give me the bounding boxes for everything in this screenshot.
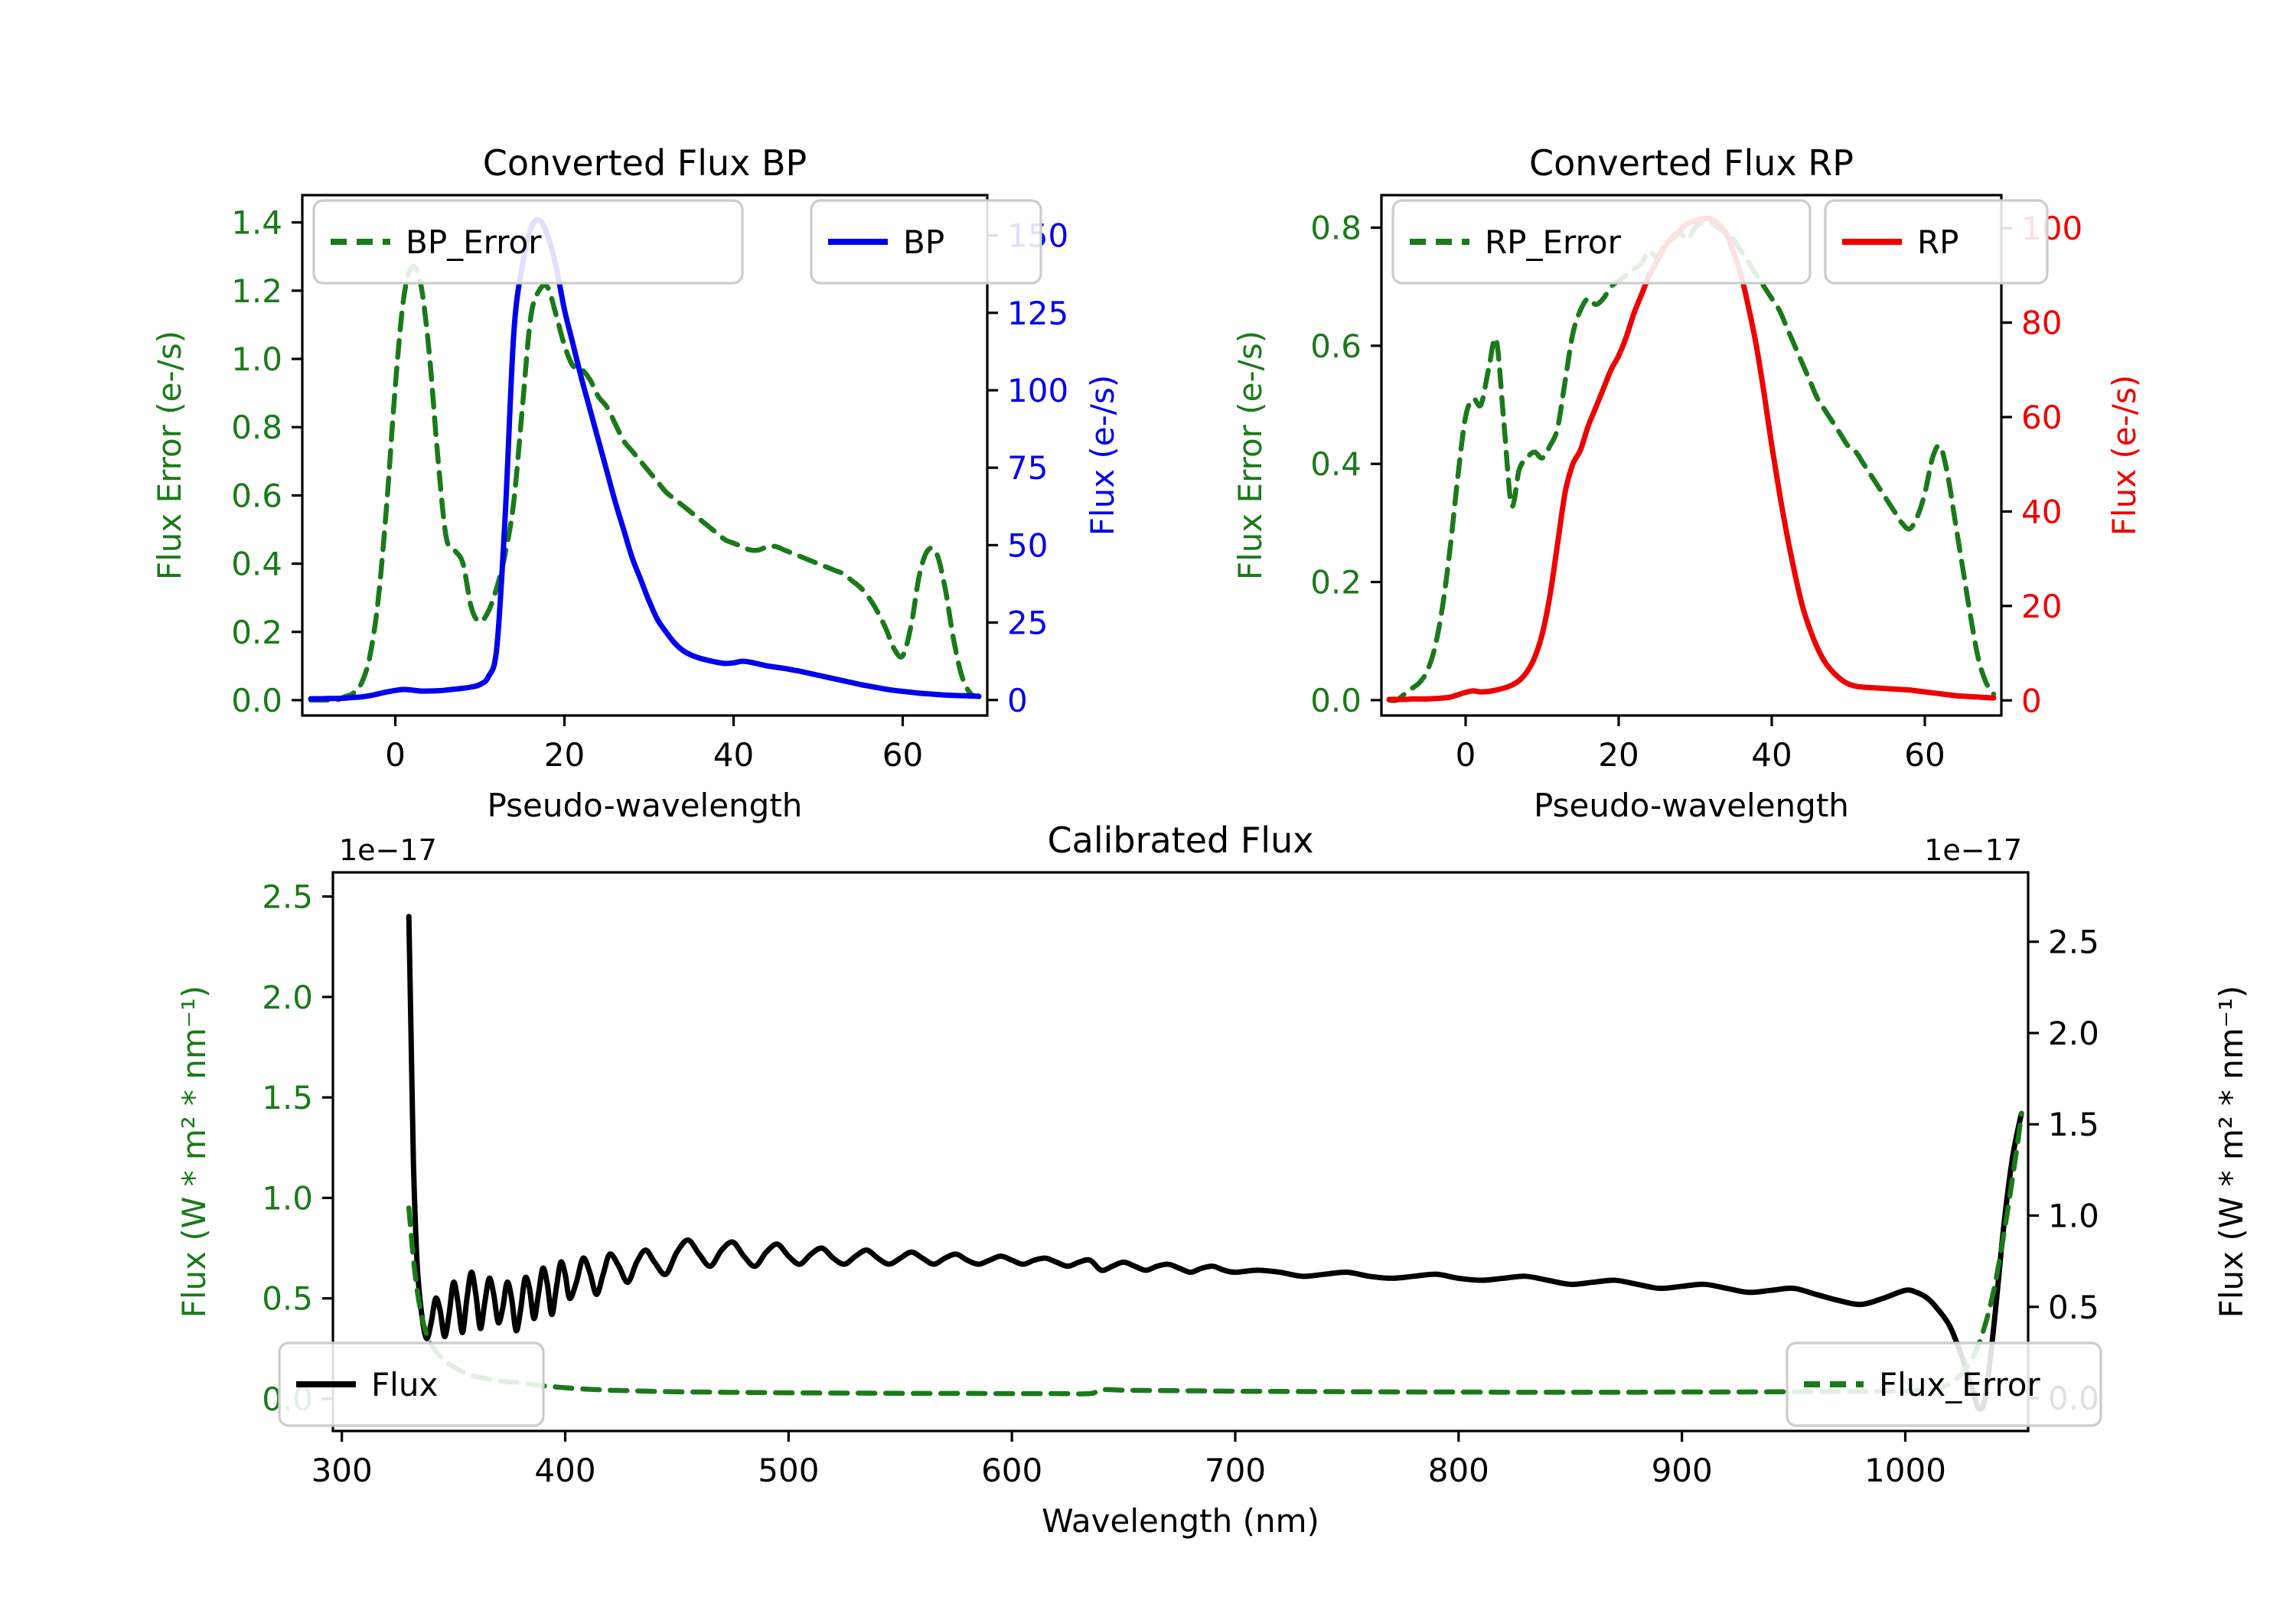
ytick-right-label: 2.0: [2048, 1015, 2099, 1052]
xtick-label: 400: [534, 1452, 595, 1489]
figure-canvas: Converted Flux BP0204060Pseudo-wavelengt…: [0, 0, 2296, 1607]
xaxis-label-cal: Wavelength (nm): [1042, 1502, 1319, 1540]
ytick-left-label: 1.0: [262, 1179, 313, 1217]
yaxis-left-offset-text: 1e−17: [339, 833, 437, 867]
legend-label: Flux: [371, 1366, 438, 1403]
subplot-calibrated-flux: Calibrated Flux3004005006007008009001000…: [0, 0, 2296, 811]
xtick-label: 1000: [1864, 1452, 1946, 1489]
xtick-label: 700: [1205, 1452, 1266, 1489]
xtick-label: 600: [981, 1452, 1042, 1489]
ytick-right-label: 1.5: [2048, 1106, 2099, 1143]
ytick-left-label: 2.5: [262, 878, 313, 916]
chart-title-cal: Calibrated Flux: [1048, 820, 1314, 861]
series-line-flux: [409, 917, 2021, 1410]
legend-label: Flux_Error: [1879, 1366, 2040, 1403]
legend-right-cal[interactable]: Flux_Error: [1787, 1343, 2101, 1426]
ytick-left-label: 0.5: [262, 1280, 313, 1318]
xtick-label: 500: [758, 1452, 819, 1489]
ytick-left-label: 1.5: [262, 1079, 313, 1116]
xtick-label: 800: [1428, 1452, 1489, 1489]
ytick-right-label: 0.5: [2048, 1289, 2099, 1326]
yaxis-right-offset-text: 1e−17: [1924, 833, 2022, 867]
chart-cal: Calibrated Flux3004005006007008009001000…: [0, 0, 2296, 811]
ytick-left-label: 2.0: [262, 979, 313, 1016]
yaxis-right-label-cal: Flux (W * m² * nm⁻¹): [2213, 986, 2250, 1319]
plot-frame: [333, 872, 2028, 1431]
ytick-right-label: 2.5: [2048, 924, 2099, 961]
xtick-label: 300: [311, 1452, 373, 1489]
yaxis-left-label-cal: Flux (W * m² * nm⁻¹): [175, 986, 213, 1319]
legend-left-cal[interactable]: Flux: [279, 1343, 543, 1426]
ytick-right-label: 1.0: [2048, 1197, 2099, 1234]
xtick-label: 900: [1652, 1452, 1713, 1489]
